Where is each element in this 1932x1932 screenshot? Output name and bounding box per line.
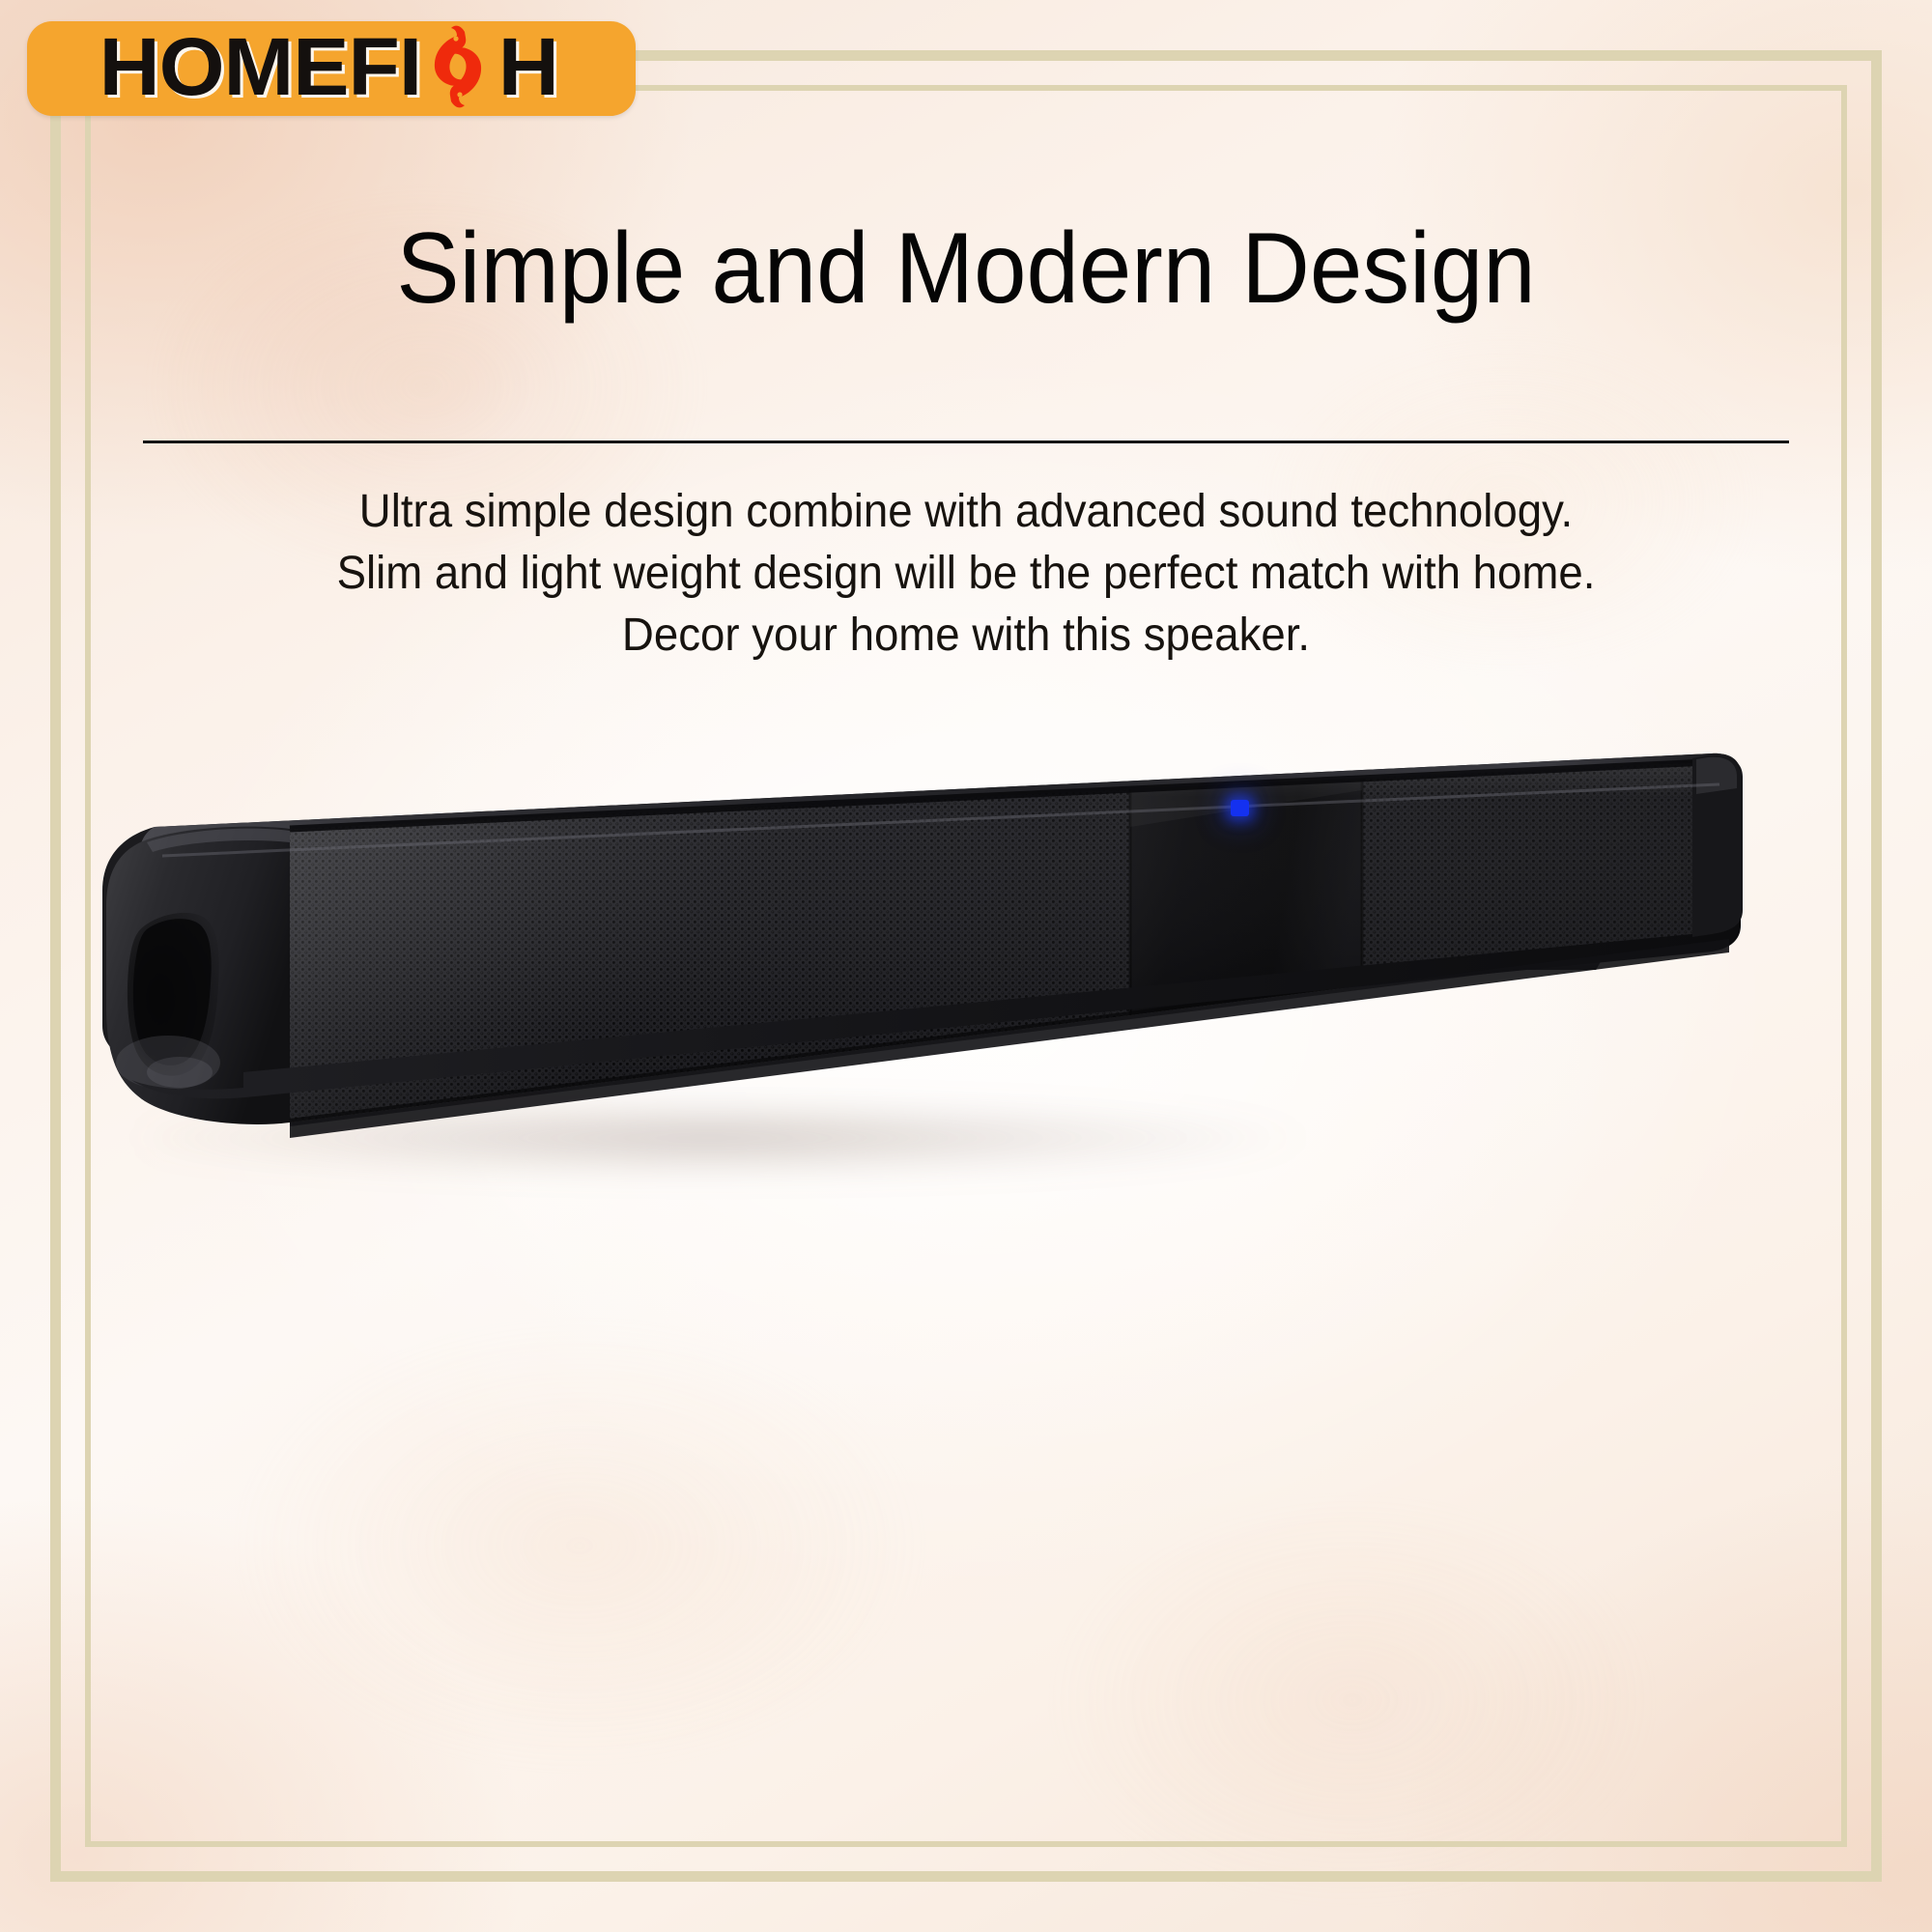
title-divider — [143, 440, 1789, 443]
product-image-soundbar — [0, 667, 1932, 1459]
koi-fish-pair-icon — [416, 22, 499, 111]
soundbar-illustration — [0, 667, 1932, 1459]
page-title: Simple and Modern Design — [58, 214, 1874, 323]
brand-wordmark: HOMEFI H — [105, 22, 557, 111]
description-line-2: Slim and light weight design will be the… — [213, 543, 1719, 605]
brand-name-suffix: H — [498, 26, 558, 107]
power-indicator-led — [1231, 800, 1249, 816]
description-text: Ultra simple design combine with advance… — [213, 481, 1719, 666]
brand-logo-badge: HOMEFI H — [27, 21, 636, 116]
promo-banner: HOMEFI H Simple and Modern Design Ultra … — [0, 0, 1932, 1932]
description-line-3: Decor your home with this speaker. — [213, 605, 1719, 667]
description-line-1: Ultra simple design combine with advance… — [213, 481, 1719, 543]
right-end-edge — [1692, 755, 1743, 937]
brand-name-prefix: HOMEFI — [99, 26, 420, 107]
